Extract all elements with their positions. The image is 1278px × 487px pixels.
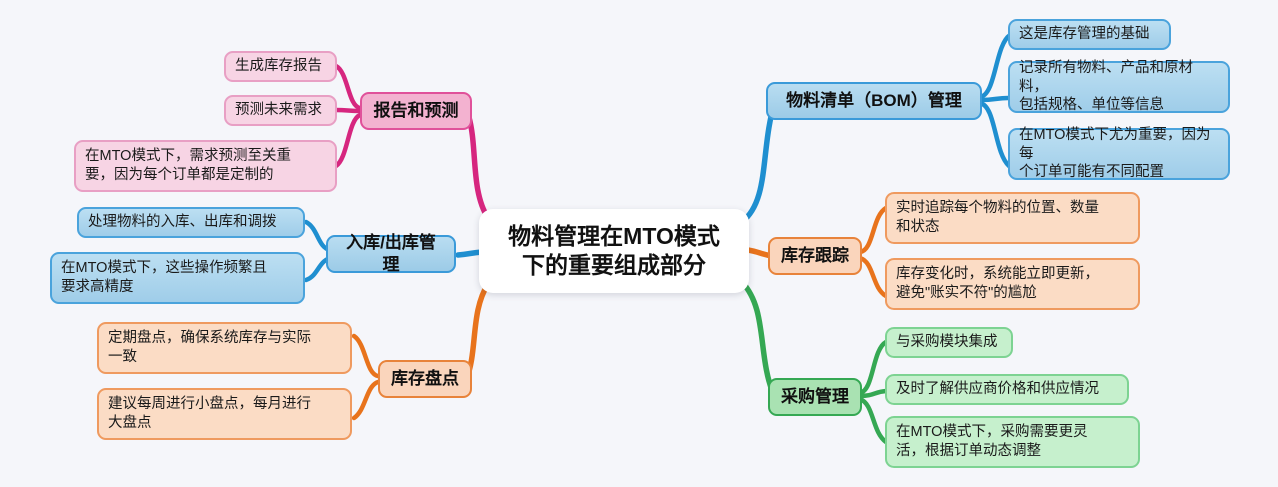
leaf-node-procurement-2[interactable]: 在MTO模式下，采购需要更灵 活，根据订单动态调整 [885,416,1140,468]
connector-procurement-leaf-1 [860,391,886,396]
branch-node-inventory-tracking[interactable]: 库存跟踪 [768,237,862,275]
connector-stocktaking-leaf-1 [354,382,378,418]
connector-inventory-tracking-leaf-1 [860,258,886,296]
connector-report-forecast-leaf-2 [336,115,360,166]
connector-bom-leaf-1 [980,98,1008,100]
connector-procurement-leaf-0 [860,342,886,393]
connector-report-forecast-leaf-1 [336,110,360,111]
branch-node-report-forecast[interactable]: 报告和预测 [360,92,472,130]
branch-node-stocktaking[interactable]: 库存盘点 [378,360,472,398]
leaf-node-inventory-tracking-0[interactable]: 实时追踪每个物料的位置、数量 和状态 [885,192,1140,244]
connector-root-to-bom [742,101,775,222]
mindmap-canvas: 物料管理在MTO模式 下的重要组成部分 物料清单（BOM）管理 这是库存管理的基… [0,0,1278,487]
root-node[interactable]: 物料管理在MTO模式 下的重要组成部分 [479,209,749,293]
connector-procurement-leaf-2 [860,399,886,442]
leaf-node-report-forecast-1[interactable]: 预测未来需求 [224,95,337,126]
leaf-node-report-forecast-2[interactable]: 在MTO模式下，需求预测至关重 要，因为每个订单都是定制的 [74,140,337,192]
branch-node-inbound-outbound[interactable]: 入库/出库管理 [326,235,456,273]
leaf-node-inventory-tracking-1[interactable]: 库存变化时，系统能立即更新， 避免"账实不符"的尴尬 [885,258,1140,310]
connector-bom-leaf-0 [980,35,1010,97]
connector-bom-leaf-2 [980,103,1009,166]
leaf-node-report-forecast-0[interactable]: 生成库存报告 [224,51,337,82]
connector-root-to-procurement [742,282,774,396]
leaf-node-bom-0[interactable]: 这是库存管理的基础 [1008,19,1171,50]
branch-node-procurement[interactable]: 采购管理 [768,378,862,416]
leaf-node-bom-2[interactable]: 在MTO模式下尤为重要，因为每 个订单可能有不同配置 [1008,128,1230,180]
leaf-node-procurement-0[interactable]: 与采购模块集成 [885,327,1013,358]
leaf-node-stocktaking-1[interactable]: 建议每周进行小盘点，每月进行 大盘点 [97,388,352,440]
connector-report-forecast-leaf-0 [336,66,360,108]
leaf-node-inbound-outbound-1[interactable]: 在MTO模式下，这些操作频繁且 要求高精度 [50,252,305,304]
leaf-node-inbound-outbound-0[interactable]: 处理物料的入库、出库和调拨 [77,207,305,238]
leaf-node-bom-1[interactable]: 记录所有物料、产品和原材料， 包括规格、单位等信息 [1008,61,1230,113]
leaf-node-stocktaking-0[interactable]: 定期盘点，确保系统库存与实际 一致 [97,322,352,374]
branch-node-bom[interactable]: 物料清单（BOM）管理 [766,82,982,120]
connector-root-to-report-forecast [468,114,488,218]
connector-inventory-tracking-leaf-0 [860,208,886,252]
connector-stocktaking-leaf-0 [354,336,378,376]
leaf-node-procurement-1[interactable]: 及时了解供应商价格和供应情况 [885,374,1129,405]
